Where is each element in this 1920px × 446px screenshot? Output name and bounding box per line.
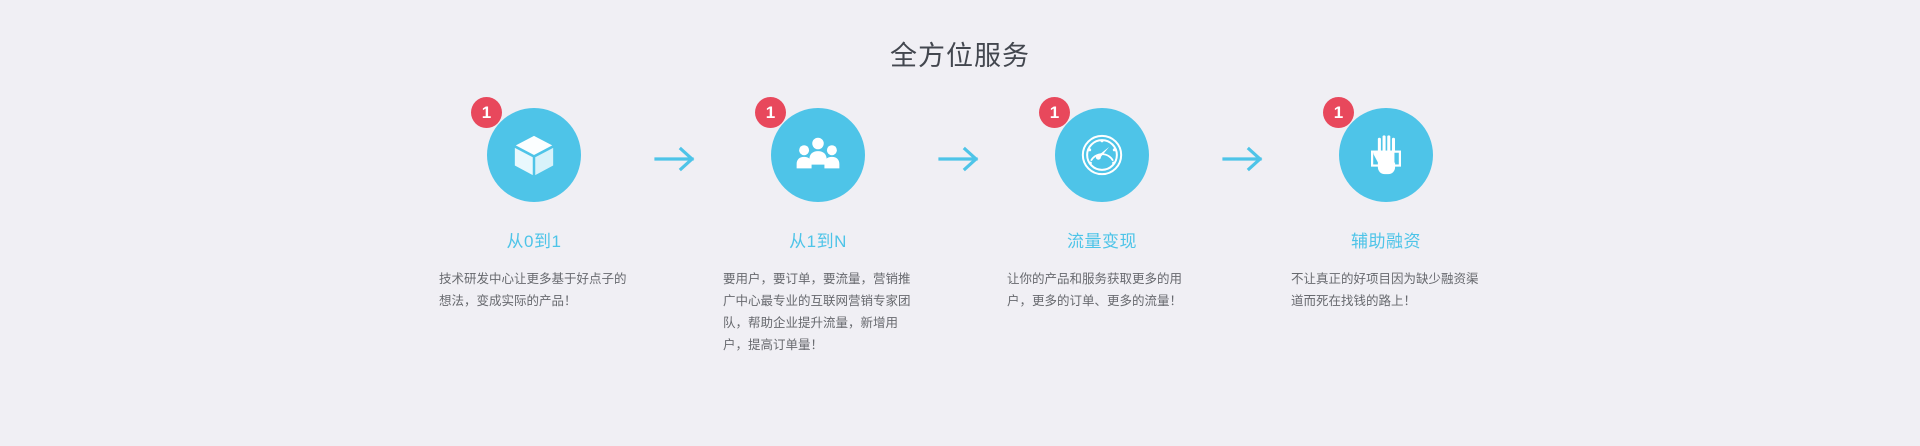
step-icon-wrap: 1 [771,108,865,202]
arrow-right-icon [938,146,982,172]
arrow-right-icon [1222,146,1266,172]
step-description: 要用户，要订单，要流量，营销推广中心最专业的互联网营销专家团队，帮助企业提升流量… [723,268,913,356]
step-connector-arrow [647,108,705,172]
step-icon-wrap: 1 ¥ [1339,108,1433,202]
svg-text:¥: ¥ [1383,151,1390,166]
step-badge: 1 [1323,97,1354,128]
step-label: 辅助融资 [1351,227,1421,252]
step-icon-circle [487,108,581,202]
arrow-right-icon [654,146,698,172]
step-item[interactable]: 1 [705,108,931,356]
step-badge: 1 [755,97,786,128]
step-label: 流量变现 [1067,227,1137,252]
steps-row: 1 从0到1 技术研发中心让更多基于好点子的想法，变成实际的产品！ [0,108,1920,356]
speedometer-gauge-icon [1079,132,1125,178]
step-icon-circle [771,108,865,202]
step-badge: 1 [1039,97,1070,128]
step-icon-circle: ¥ [1339,108,1433,202]
step-connector-arrow [931,108,989,172]
page-title: 全方位服务 [0,34,1920,73]
step-connector-arrow [1215,108,1273,172]
step-description: 不让真正的好项目因为缺少融资渠道而死在找钱的路上！ [1291,268,1481,312]
step-icon-wrap: 1 [487,108,581,202]
step-item[interactable]: 1 [989,108,1215,312]
cube-box-icon [511,132,557,178]
step-description: 技术研发中心让更多基于好点子的想法，变成实际的产品！ [439,268,629,312]
step-label: 从0到1 [507,227,562,252]
users-group-icon [795,132,841,178]
step-icon-circle [1055,108,1149,202]
step-item[interactable]: 1 从0到1 技术研发中心让更多基于好点子的想法，变成实际的产品！ [421,108,647,312]
step-label: 从1到N [789,227,847,252]
full-service-section: 全方位服务 1 从0 [0,0,1920,446]
step-description: 让你的产品和服务获取更多的用户，更多的订单、更多的流量！ [1007,268,1197,312]
step-badge: 1 [471,97,502,128]
step-icon-wrap: 1 [1055,108,1149,202]
hand-holding-yen-card-icon: ¥ [1363,132,1409,178]
step-item[interactable]: 1 ¥ [1273,108,1499,312]
